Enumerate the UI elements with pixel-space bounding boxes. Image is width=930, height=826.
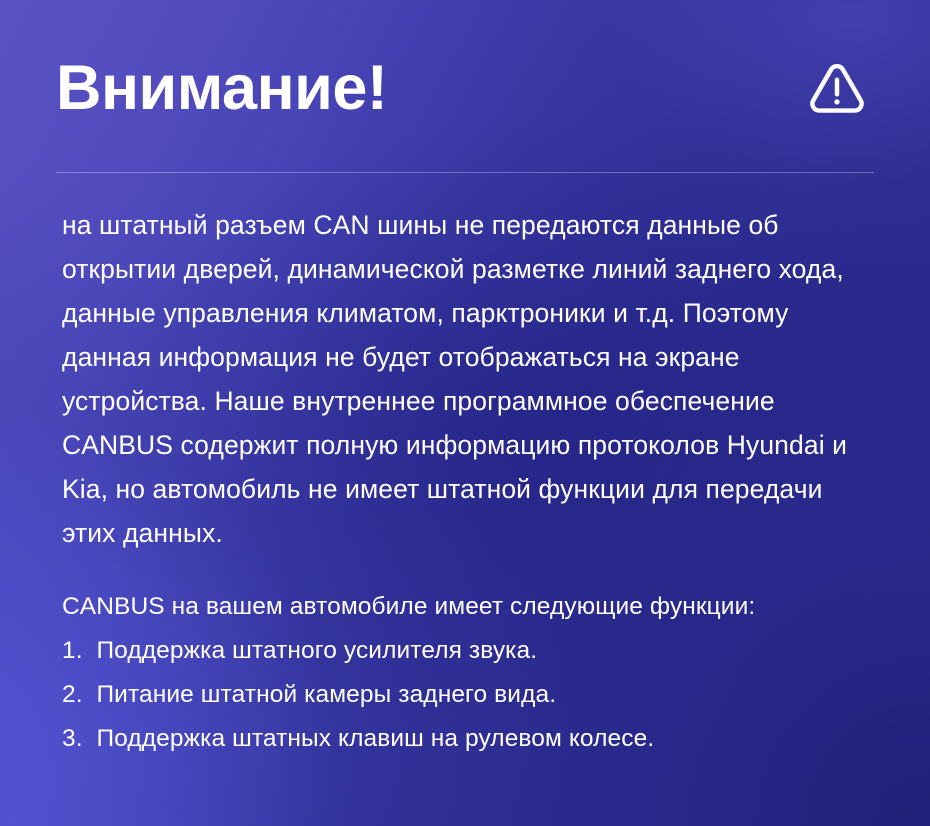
list-item-label: Питание штатной камеры заднего вида.: [96, 681, 556, 708]
banner-content: Внимание! на штатный разъем CAN шины не …: [0, 0, 930, 826]
functions-list: 1. Поддержка штатного усилителя звука. 2…: [62, 629, 874, 761]
list-item-number: 2.: [62, 681, 90, 708]
functions-intro: CANBUS на вашем автомобиле имеет следующ…: [62, 585, 874, 629]
list-item-number: 1.: [62, 637, 90, 664]
banner-header: Внимание!: [56, 0, 874, 172]
list-item-label: Поддержка штатного усилителя звука.: [96, 637, 537, 664]
list-item: 3. Поддержка штатных клавиш на рулевом к…: [62, 717, 874, 761]
functions-block: CANBUS на вашем автомобиле имеет следующ…: [56, 555, 874, 761]
list-item: 1. Поддержка штатного усилителя звука.: [62, 629, 874, 673]
body-paragraph: на штатный разъем CAN шины не передаются…: [56, 173, 874, 555]
warning-triangle-icon: [806, 57, 868, 119]
page-title: Внимание!: [56, 57, 387, 120]
list-item-label: Поддержка штатных клавиш на рулевом коле…: [96, 725, 654, 752]
list-item-number: 3.: [62, 725, 90, 752]
warning-banner: Внимание! на штатный разъем CAN шины не …: [0, 0, 930, 826]
list-item: 2. Питание штатной камеры заднего вида.: [62, 673, 874, 717]
